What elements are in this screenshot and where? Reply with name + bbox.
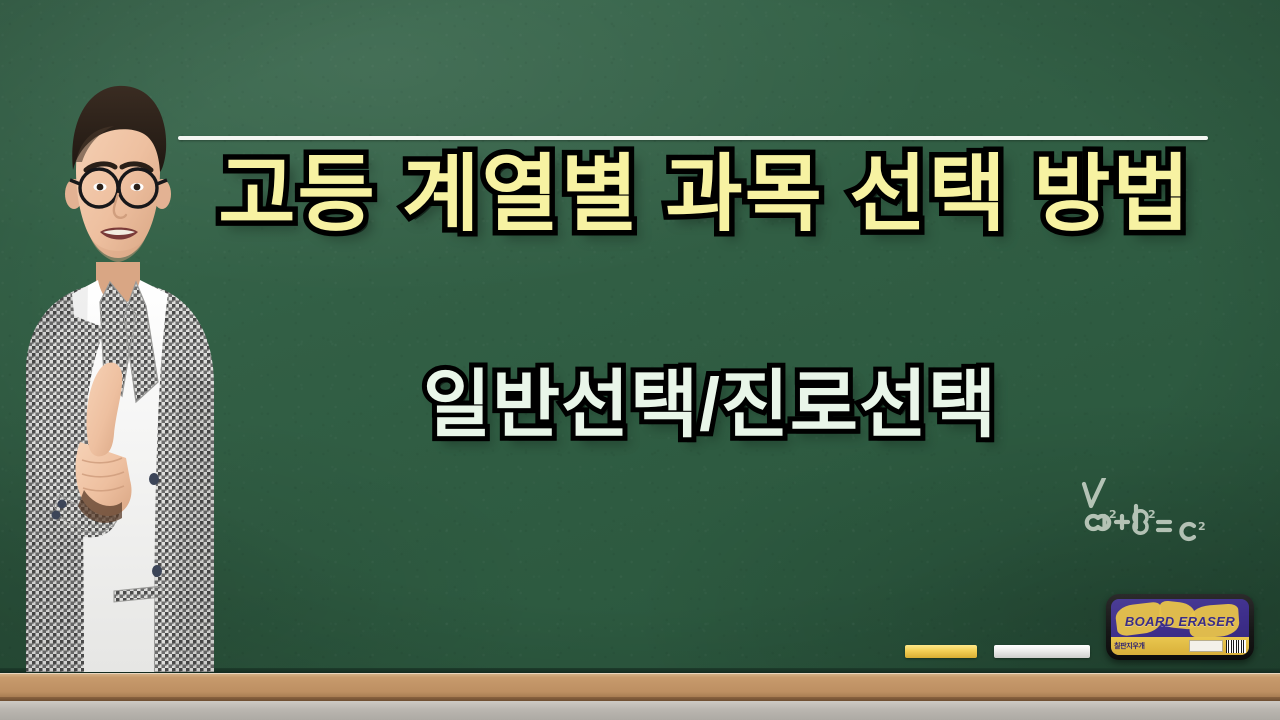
- eraser-barcode-icon: [1226, 640, 1246, 653]
- eraser-info-box: [1189, 640, 1223, 652]
- eraser-package-face: BOARD ERASER 칠판지우개: [1111, 599, 1249, 655]
- eraser-brand-label: BOARD ERASER: [1111, 614, 1249, 629]
- board-eraser-package: BOARD ERASER 칠판지우개: [1106, 594, 1254, 660]
- chalk-stick-yellow: [905, 645, 977, 658]
- chalkboard-surface: [0, 0, 1280, 672]
- chalk-ledge: [0, 673, 1280, 700]
- title-divider-rule: [178, 136, 1208, 140]
- floor-strip: [0, 701, 1280, 720]
- eraser-bottom-band: 칠판지우개: [1111, 637, 1249, 655]
- eraser-band-text: 칠판지우개: [1114, 641, 1145, 651]
- slide-canvas: 고등 계열별 과목 선택 방법 일반선택/진로선택: [0, 0, 1280, 720]
- chalk-stick-white: [994, 645, 1090, 658]
